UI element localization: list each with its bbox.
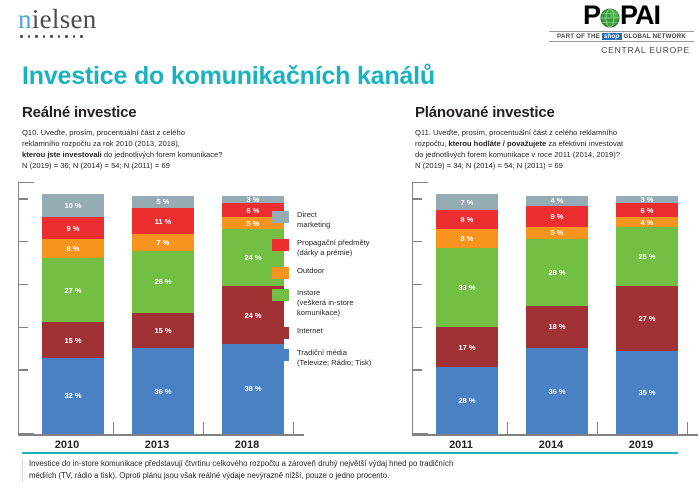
- bar-group-2014[interactable]: 4 %9 %5 %28 %18 %36 %: [518, 182, 608, 434]
- bar-segment[interactable]: 3 %: [222, 196, 284, 203]
- bar-segment[interactable]: 27 %: [42, 258, 104, 322]
- question-line-tail: za efektivní investovat: [546, 139, 623, 148]
- bar-segment[interactable]: 7 %: [436, 194, 498, 211]
- bar-segment[interactable]: 17 %: [436, 327, 498, 367]
- bar-group-2011[interactable]: 7 %8 %8 %33 %17 %28 %: [428, 182, 518, 434]
- x-axis-label-2014: 2014: [502, 439, 592, 451]
- chart-planovane-investice: 7 %8 %8 %33 %17 %28 %4 %9 %5 %28 %18 %36…: [412, 182, 698, 451]
- legend-item-internet[interactable]: Internet: [272, 326, 407, 339]
- x-axis-tick: [293, 422, 295, 434]
- stacked-bar[interactable]: 3 %6 %4 %25 %27 %35 %: [616, 196, 678, 434]
- legend-swatch-icon: [272, 211, 289, 223]
- legend-label: Instore(veškerá in-storekomunikace): [297, 288, 354, 317]
- globe-icon: [600, 6, 620, 26]
- slide-root: nielsen P PAI PART OF THE shop GLOBAL NE…: [0, 0, 700, 492]
- legend-item-instore[interactable]: Instore(veškerá in-storekomunikace): [272, 288, 407, 317]
- bar-segment[interactable]: 25 %: [616, 227, 678, 287]
- bar-group-2013[interactable]: 5 %11 %7 %26 %15 %36 %: [124, 182, 214, 434]
- legend-swatch-icon: [272, 349, 289, 361]
- x-axis-tick: [507, 422, 509, 434]
- legend-item-tradicni-media[interactable]: Tradiční média(Televize; Rádio; Tisk): [272, 348, 407, 367]
- bar-segment[interactable]: 28 %: [526, 239, 588, 306]
- footer-note: Investice do in-store komunikace předsta…: [22, 458, 678, 482]
- question-line-tail: do jednotlivých forem komunikace?: [102, 150, 223, 159]
- panel-heading-realne: Reálné investice: [22, 104, 412, 121]
- panel-heading-planovane: Plánované investice: [415, 104, 697, 121]
- bar-segment[interactable]: 36 %: [526, 348, 588, 434]
- bar-segment[interactable]: 3 %: [616, 196, 678, 203]
- question-sample-size: N (2019) = 36; N (2014) = 54; N (2011) =…: [22, 160, 412, 171]
- bars-container: 10 %9 %8 %27 %15 %32 %5 %11 %7 %26 %15 %…: [34, 182, 304, 434]
- y-axis-tick: [19, 241, 28, 243]
- bar-segment[interactable]: 35 %: [616, 351, 678, 434]
- footer-line: médiích (TV, rádio a tisk). Oproti plánu…: [29, 470, 678, 482]
- bar-segment[interactable]: 26 %: [132, 251, 194, 313]
- footer-divider: [22, 452, 678, 454]
- question-line: reklamního rozpočtu za rok 2010 (2013, 2…: [22, 138, 412, 149]
- y-axis-tick: [413, 327, 422, 329]
- bar-group-2019[interactable]: 3 %6 %4 %25 %27 %35 %: [608, 182, 698, 434]
- y-axis-tick: [413, 284, 422, 286]
- bar-segment[interactable]: 15 %: [42, 322, 104, 358]
- question-line: Q11. Uveďte, prosím, procentuální část z…: [415, 127, 697, 138]
- bar-segment[interactable]: 8 %: [42, 239, 104, 258]
- legend-label: Propagační předměty(dárky a prémie): [297, 238, 370, 257]
- bar-segment[interactable]: 10 %: [42, 194, 104, 218]
- panel-question-planovane: Q11. Uveďte, prosím, procentuální část z…: [415, 127, 697, 171]
- nielsen-rest: ielsen: [32, 4, 97, 34]
- legend-label: Directmarketing: [297, 210, 330, 229]
- bar-segment[interactable]: 8 %: [436, 229, 498, 248]
- bar-segment[interactable]: 27 %: [616, 286, 678, 350]
- x-axis-label-2013: 2013: [108, 439, 198, 451]
- x-axis-label-2018: 2018: [198, 439, 288, 451]
- bar-segment[interactable]: 28 %: [436, 367, 498, 434]
- footer-line: Investice do in-store komunikace předsta…: [29, 458, 678, 470]
- x-axis-label-2010: 2010: [18, 439, 108, 451]
- popai-p: P: [583, 2, 600, 29]
- legend-swatch-icon: [272, 289, 289, 301]
- question-line: rozpočtu, kterou hodláte / považujete za…: [415, 138, 697, 149]
- nielsen-wordmark: nielsen: [18, 6, 138, 33]
- legend-label: Outdoor: [297, 266, 324, 276]
- x-axis-label-2019: 2019: [592, 439, 682, 451]
- bar-group-2010[interactable]: 10 %9 %8 %27 %15 %32 %: [34, 182, 124, 434]
- bars-container: 7 %8 %8 %33 %17 %28 %4 %9 %5 %28 %18 %36…: [428, 182, 698, 434]
- legend-item-propagacni-predmety[interactable]: Propagační předměty(dárky a prémie): [272, 238, 407, 257]
- stacked-bar[interactable]: 5 %11 %7 %26 %15 %36 %: [132, 196, 194, 434]
- bar-segment[interactable]: 15 %: [132, 313, 194, 349]
- question-line: do jednotlivých forem komunikace v roce …: [415, 149, 697, 160]
- bar-segment[interactable]: 9 %: [42, 217, 104, 238]
- legend-label: Internet: [297, 326, 323, 336]
- stacked-bar[interactable]: 10 %9 %8 %27 %15 %32 %: [42, 194, 104, 434]
- panel-realne-investice: Reálné investice Q10. Uveďte, prosím, pr…: [22, 104, 412, 171]
- panel-planovane-investice: Plánované investice Q11. Uveďte, prosím,…: [415, 104, 697, 171]
- popai-region: CENTRAL EUROPE: [549, 45, 694, 55]
- y-axis-tick: [19, 198, 28, 200]
- bar-segment[interactable]: 7 %: [132, 234, 194, 251]
- x-axis-labels: 201020132018: [18, 439, 304, 451]
- legend-label: Tradiční média(Televize; Rádio; Tisk): [297, 348, 371, 367]
- x-axis-tick: [203, 422, 205, 434]
- legend-item-outdoor[interactable]: Outdoor: [272, 266, 407, 279]
- nielsen-initial: n: [18, 4, 32, 34]
- bar-segment[interactable]: 4 %: [616, 217, 678, 227]
- question-sample-size: N (2019) = 34; N (2014) = 54; N (2011) =…: [415, 160, 697, 171]
- y-axis-tick: [19, 369, 28, 371]
- y-axis-tick: [413, 198, 422, 200]
- x-axis-line: [412, 434, 698, 436]
- bar-segment[interactable]: 18 %: [526, 306, 588, 349]
- legend-item-direct-marketing[interactable]: Directmarketing: [272, 210, 407, 229]
- stacked-bar[interactable]: 4 %9 %5 %28 %18 %36 %: [526, 196, 588, 434]
- bar-segment[interactable]: 11 %: [132, 208, 194, 234]
- y-axis: [18, 182, 34, 434]
- question-line: kterou jste investovali do jednotlivých …: [22, 149, 412, 160]
- page-title: Investice do komunikačních kanálů: [22, 62, 435, 91]
- nielsen-logo: nielsen: [18, 6, 138, 38]
- x-axis-tick: [687, 422, 689, 434]
- legend-swatch-icon: [272, 239, 289, 251]
- x-axis-line: [18, 434, 304, 436]
- y-axis-tick: [413, 241, 422, 243]
- nielsen-dots-icon: [18, 35, 138, 38]
- bar-segment[interactable]: 6 %: [616, 203, 678, 217]
- y-axis-tick: [19, 284, 28, 286]
- question-line: Q10. Uveďte, prosím, procentuální část z…: [22, 127, 412, 138]
- bar-segment[interactable]: 33 %: [436, 248, 498, 327]
- bar-segment[interactable]: 5 %: [132, 196, 194, 208]
- popai-network-line: PART OF THE shop GLOBAL NETWORK: [549, 31, 694, 42]
- chart-plot-area: 10 %9 %8 %27 %15 %32 %5 %11 %7 %26 %15 %…: [18, 182, 304, 434]
- chart-plot-area: 7 %8 %8 %33 %17 %28 %4 %9 %5 %28 %18 %36…: [412, 182, 698, 434]
- popai-sub-suffix: GLOBAL NETWORK: [622, 33, 686, 40]
- y-axis-tick: [19, 327, 28, 329]
- y-axis-tick: [413, 369, 422, 371]
- popai-pai: PAI: [620, 2, 660, 29]
- legend-swatch-icon: [272, 327, 289, 339]
- legend-swatch-icon: [272, 267, 289, 279]
- x-axis-label-2011: 2011: [412, 439, 502, 451]
- panel-question-realne: Q10. Uveďte, prosím, procentuální část z…: [22, 127, 412, 171]
- x-axis-tick: [597, 422, 599, 434]
- y-axis: [412, 182, 428, 434]
- question-line-bold: kterou hodláte / považujete: [448, 139, 546, 148]
- bar-segment[interactable]: 5 %: [526, 227, 588, 239]
- bar-segment[interactable]: 8 %: [436, 210, 498, 229]
- popai-wordmark: P PAI: [549, 2, 694, 29]
- bar-segment[interactable]: 36 %: [132, 348, 194, 434]
- question-line-head: rozpočtu,: [415, 139, 448, 148]
- question-line-bold: kterou jste investovali: [22, 150, 102, 159]
- bar-segment[interactable]: 32 %: [42, 358, 104, 434]
- bar-segment[interactable]: 9 %: [526, 206, 588, 227]
- popai-logo: P PAI PART OF THE shop GLOBAL NETWORK CE…: [549, 2, 694, 55]
- popai-sub-prefix: PART OF THE: [557, 33, 602, 40]
- x-axis-labels: 201120142019: [412, 439, 698, 451]
- x-axis-tick: [113, 422, 115, 434]
- stacked-bar[interactable]: 7 %8 %8 %33 %17 %28 %: [436, 194, 498, 434]
- chart-realne-investice: 10 %9 %8 %27 %15 %32 %5 %11 %7 %26 %15 %…: [18, 182, 304, 451]
- bar-segment[interactable]: 4 %: [526, 196, 588, 206]
- shop-badge: shop: [602, 33, 622, 40]
- chart-legend: DirectmarketingPropagační předměty(dárky…: [272, 210, 407, 376]
